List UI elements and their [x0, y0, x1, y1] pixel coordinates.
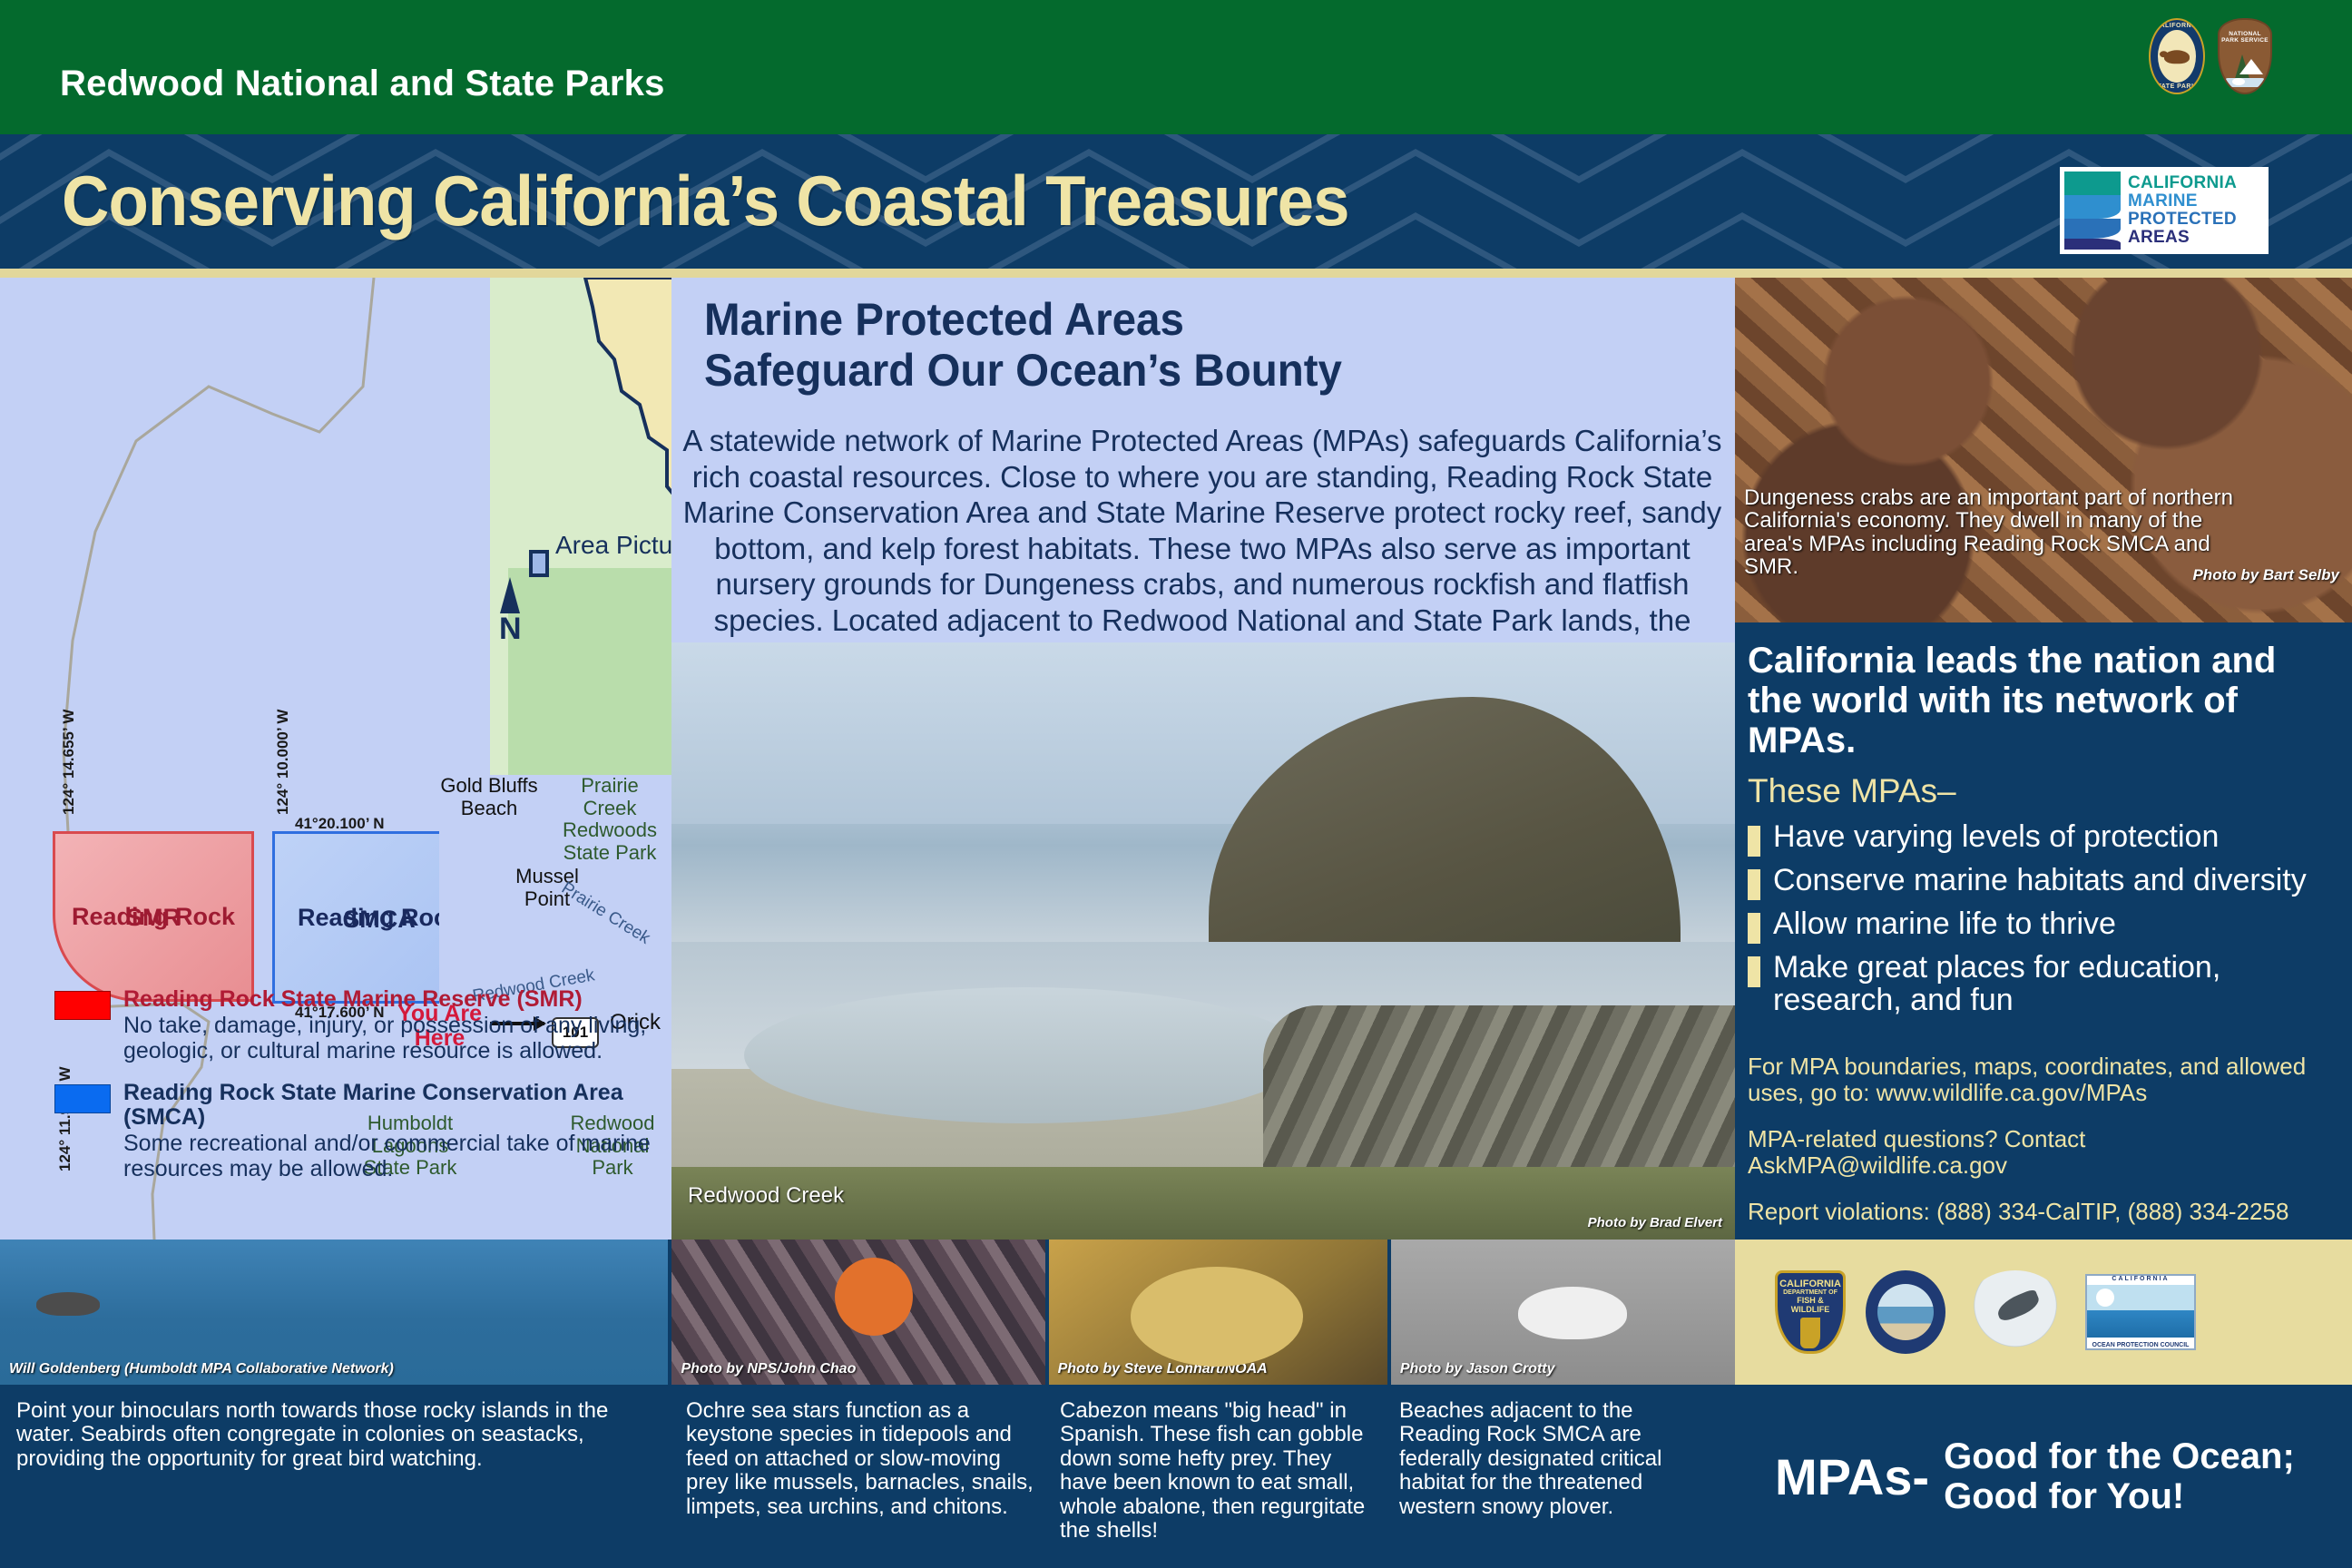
opc-top-text: CALIFORNIA — [2087, 1276, 2194, 1282]
area-pictured-marker-icon — [529, 550, 549, 577]
beach-photo-credit: Photo by Brad Elvert — [1588, 1215, 1722, 1230]
snowy-plover-photograph: Photo by Jason Crotty — [1391, 1240, 1735, 1385]
caption-sea-star: Ochre sea stars function as a keystone s… — [670, 1385, 1044, 1568]
tagline-lead: MPAs- — [1775, 1447, 1929, 1506]
contact-violations-line: Report violations: (888) 334-CalTIP, (88… — [1748, 1199, 2347, 1225]
crab-photo-credit: Photo by Bart Selby — [2192, 566, 2339, 584]
bullet-text: Allow marine life to thrive — [1773, 907, 2116, 940]
caption-cabezon: Cabezon means "big head" in Spanish. The… — [1044, 1385, 1383, 1568]
bullet-marker-icon — [1748, 826, 1760, 857]
page-title: Conserving California’s Coastal Treasure… — [62, 160, 1349, 242]
photo-credit: Photo by Jason Crotty — [1400, 1361, 1555, 1377]
national-park-service-arrowhead-icon: NATIONAL PARK SERVICE — [2218, 18, 2272, 94]
legend-swatch-smca-icon — [54, 1084, 111, 1113]
seal-bottom-text: STATE PARKS — [2151, 83, 2203, 90]
humboldt-mpa-collaborative-logo-icon — [1866, 1270, 1945, 1354]
photo-credit: Will Goldenberg (Humboldt MPA Collaborat… — [9, 1361, 394, 1377]
tagline-bar: MPAs- Good for the Ocean; Good for You! — [1735, 1385, 2352, 1568]
bottom-photo-strip: Will Goldenberg (Humboldt MPA Collaborat… — [0, 1240, 1735, 1385]
map-legend: Reading Rock State Marine Reserve (SMR) … — [54, 987, 653, 1199]
right-subheading: These MPAs– — [1748, 772, 1956, 810]
california-marine-sanctuary-foundation-logo-icon — [1965, 1270, 2065, 1354]
headline-line-1: Marine Protected Areas — [704, 294, 1661, 345]
interpretive-sign-panel: Redwood National and State Parks CALIFOR… — [0, 0, 2352, 1568]
seal-top-text: CALIFORNIA — [2151, 23, 2203, 29]
photo-credit: Photo by Steve Lonhart/NOAA — [1058, 1361, 1268, 1377]
list-item: Make great places for education, researc… — [1748, 951, 2337, 1016]
agency-header-bar: Redwood National and State Parks CALIFOR… — [0, 0, 2352, 134]
opc-bottom-text: OCEAN PROTECTION COUNCIL — [2087, 1342, 2194, 1348]
nps-text: NATIONAL PARK SERVICE — [2220, 31, 2270, 44]
ocean-protection-council-logo-icon: CALIFORNIA OCEAN PROTECTION COUNCIL — [2085, 1274, 2196, 1350]
mpa-logo-line1: CALIFORNIA — [2128, 174, 2264, 192]
legend-item-smr: Reading Rock State Marine Reserve (SMR) … — [54, 987, 653, 1064]
wave-bars-icon — [2064, 171, 2121, 250]
california-fish-and-wildlife-logo-icon: CALIFORNIA DEPARTMENT OF FISH & WILDLIFE — [1775, 1270, 1846, 1354]
california-state-parks-seal-icon: CALIFORNIA STATE PARKS — [2149, 18, 2205, 94]
cabezon-photograph: Photo by Steve Lonhart/NOAA — [1049, 1240, 1387, 1385]
beach-photograph: Redwood Creek Photo by Brad Elvert — [671, 642, 1735, 1240]
seastacks-photograph: Will Goldenberg (Humboldt MPA Collaborat… — [0, 1240, 668, 1385]
right-heading: California leads the nation and the worl… — [1748, 641, 2337, 760]
legend-swatch-smr-icon — [54, 991, 111, 1020]
legend-body-smr: No take, damage, injury, or possession o… — [123, 1013, 653, 1064]
ochre-sea-star-photograph: Photo by NPS/John Chao — [671, 1240, 1044, 1385]
caption-seastacks: Point your binoculars north towards thos… — [0, 1385, 670, 1568]
mpa-logo-line3: PROTECTED — [2128, 211, 2264, 229]
contact-info-block: For MPA boundaries, maps, coordinates, a… — [1748, 1053, 2347, 1240]
bullet-text: Make great places for education, researc… — [1773, 951, 2337, 1016]
agency-logo-group: CALIFORNIA STATE PARKS NATIONAL PARK SER… — [2149, 18, 2272, 94]
bottom-caption-bar: Point your binoculars north towards thos… — [0, 1385, 1735, 1568]
list-item: Conserve marine habitats and diversity — [1748, 864, 2337, 900]
bear-icon — [2164, 50, 2190, 64]
partner-logo-band: CALIFORNIA DEPARTMENT OF FISH & WILDLIFE… — [1735, 1240, 2352, 1385]
mpa-logo-line2: MARINE — [2128, 192, 2264, 211]
contact-questions-line: MPA-related questions? Contact AskMPA@wi… — [1748, 1126, 2347, 1179]
mpa-logo-line4: AREAS — [2128, 229, 2264, 247]
caption-snowy-plover: Beaches adjacent to the Reading Rock SMC… — [1383, 1385, 1728, 1568]
bullet-text: Have varying levels of protection — [1773, 820, 2219, 853]
photo-credit: Photo by NPS/John Chao — [681, 1361, 856, 1377]
california-state-inset-icon — [531, 278, 671, 704]
bullet-marker-icon — [1748, 869, 1760, 900]
legend-item-smca: Reading Rock State Marine Conservation A… — [54, 1081, 653, 1182]
california-mpa-logo: CALIFORNIA MARINE PROTECTED AREAS — [2060, 167, 2269, 254]
cdfw-line1: CALIFORNIA — [1778, 1279, 1843, 1289]
map-coordinate-n-20100: 41°20.100’ N — [295, 815, 385, 833]
list-item: Have varying levels of protection — [1748, 820, 2337, 857]
bullet-marker-icon — [1748, 956, 1760, 987]
main-content-column: Marine Protected Areas Safeguard Our Oce… — [671, 278, 1735, 1240]
map-area-smr-label2: SMR — [53, 904, 254, 932]
legend-title-smca: Reading Rock State Marine Conservation A… — [123, 1081, 653, 1131]
crab-photo-caption: Dungeness crabs are an important part of… — [1744, 486, 2252, 579]
main-headline: Marine Protected Areas Safeguard Our Oce… — [704, 294, 1661, 396]
agency-title: Redwood National and State Parks — [60, 64, 665, 104]
map-coordinate-w-14655: 124° 14.655’ W — [60, 710, 78, 815]
tagline-text: Good for the Ocean; Good for You! — [1944, 1436, 2295, 1516]
north-label: N — [499, 612, 522, 647]
legend-body-smca: Some recreational and/or commercial take… — [123, 1131, 653, 1182]
north-arrow-icon: N — [499, 577, 522, 647]
cdfw-line2: DEPARTMENT OF — [1778, 1289, 1843, 1296]
gold-divider-rule — [0, 269, 2352, 278]
dungeness-crab-photograph: Dungeness crabs are an important part of… — [1735, 278, 2352, 622]
beach-photo-caption: Redwood Creek — [688, 1183, 844, 1209]
bullet-text: Conserve marine habitats and diversity — [1773, 864, 2307, 897]
headline-line-2: Safeguard Our Ocean’s Bounty — [704, 345, 1661, 396]
legend-title-smr: Reading Rock State Marine Reserve (SMR) — [123, 987, 653, 1013]
list-item: Allow marine life to thrive — [1748, 907, 2337, 944]
tagline-line-1: Good for the Ocean; — [1944, 1436, 2295, 1476]
tagline-line-2: Good for You! — [1944, 1476, 2295, 1516]
contact-boundaries-line: For MPA boundaries, maps, coordinates, a… — [1748, 1053, 2347, 1106]
right-info-column: Dungeness crabs are an important part of… — [1735, 278, 2352, 1240]
area-pictured-label: Area Pictured — [555, 532, 671, 558]
bullet-marker-icon — [1748, 913, 1760, 944]
cdfw-line3: FISH & WILDLIFE — [1778, 1296, 1843, 1314]
mpa-benefits-list: Have varying levels of protection Conser… — [1748, 820, 2337, 1024]
map-coordinate-w-10000: 124° 10.000’ W — [274, 710, 292, 815]
